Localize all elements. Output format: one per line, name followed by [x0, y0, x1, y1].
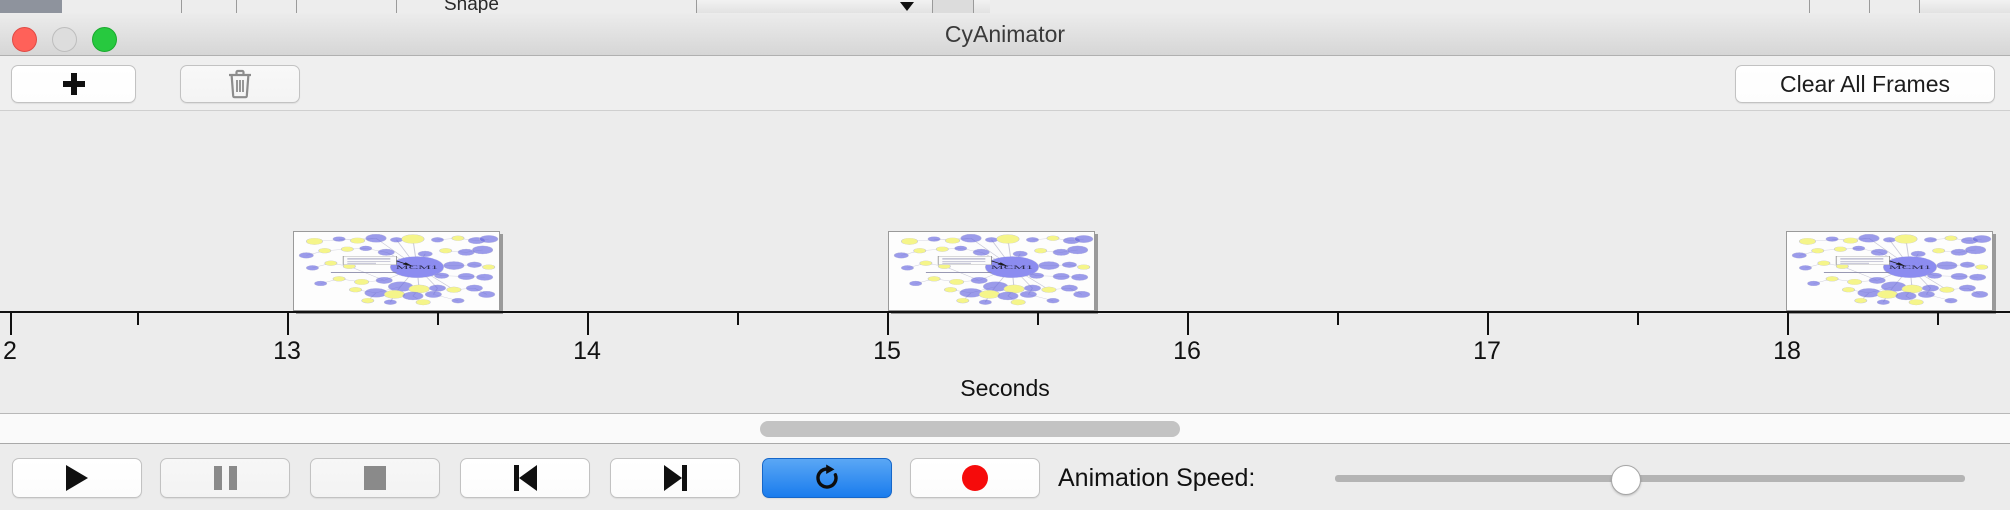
- delete-frame-button[interactable]: [180, 65, 300, 103]
- axis-tick: [1937, 313, 1939, 325]
- axis-title: Seconds: [0, 375, 2010, 402]
- pause-button[interactable]: [160, 458, 290, 498]
- background-notch: [932, 0, 974, 13]
- frame-thumbnail: MCM1: [889, 232, 1094, 310]
- animation-speed-slider[interactable]: [1335, 458, 1965, 498]
- stop-button[interactable]: [310, 458, 440, 498]
- play-icon: [66, 465, 88, 491]
- background-tab-1: [62, 0, 182, 13]
- background-window-sidebar: [0, 0, 62, 13]
- axis-tick: [1037, 313, 1039, 325]
- add-frame-button[interactable]: [11, 65, 136, 103]
- title-bar: CyAnimator: [0, 13, 2010, 56]
- axis-tick-label: 17: [1473, 337, 1501, 366]
- axis-tick: [1337, 313, 1339, 325]
- background-shape-label: Shape: [444, 0, 499, 14]
- axis-tick: [587, 313, 589, 335]
- background-tab-6: [990, 0, 1810, 13]
- plus-icon: [63, 73, 85, 95]
- axis-tick: [1487, 313, 1489, 335]
- axis-tick-label: 13: [273, 337, 301, 366]
- scrollbar-thumb[interactable]: [760, 421, 1180, 437]
- window-title: CyAnimator: [0, 13, 2010, 56]
- loop-icon: [812, 463, 842, 493]
- animation-speed-label: Animation Speed:: [1058, 458, 1255, 498]
- loop-button[interactable]: [762, 458, 892, 498]
- record-button[interactable]: [910, 458, 1040, 498]
- skip-next-button[interactable]: [610, 458, 740, 498]
- trash-icon: [227, 69, 253, 99]
- axis-tick: [287, 313, 289, 335]
- axis-tick-label: 18: [1773, 337, 1801, 366]
- timeline-axis-line: [0, 311, 2010, 313]
- frame-thumbnail: MCM1: [1787, 232, 1992, 310]
- axis-tick: [437, 313, 439, 325]
- axis-tick-label: 2: [3, 337, 17, 366]
- timeline-frame[interactable]: MCM1: [888, 231, 1095, 311]
- clear-all-frames-label: Clear All Frames: [1780, 71, 1950, 98]
- hub-node-label: MCM1: [396, 265, 438, 271]
- pause-icon: [214, 466, 237, 490]
- clear-all-frames-button[interactable]: Clear All Frames: [1735, 65, 1995, 103]
- axis-tick: [1637, 313, 1639, 325]
- stop-icon: [364, 466, 386, 490]
- axis-tick-label: 14: [573, 337, 601, 366]
- background-tab-8: [1870, 0, 1920, 13]
- axis-tick: [1787, 313, 1789, 335]
- frame-thumbnail: MCM1: [294, 232, 499, 310]
- background-tab-3: [237, 0, 297, 13]
- playback-bar: Animation Speed:: [0, 445, 2010, 510]
- axis-tick-label: 15: [873, 337, 901, 366]
- slider-track: [1335, 475, 1965, 482]
- background-tab-5: [397, 0, 697, 13]
- hub-node-label: MCM1: [991, 265, 1033, 271]
- background-window-strip: Shape: [0, 0, 2010, 14]
- play-button[interactable]: [12, 458, 142, 498]
- toolbar: Clear All Frames: [0, 56, 2010, 111]
- axis-tick-label: 16: [1173, 337, 1201, 366]
- axis-tick: [1187, 313, 1189, 335]
- slider-thumb[interactable]: [1611, 465, 1641, 495]
- skip-previous-button[interactable]: [460, 458, 590, 498]
- record-icon: [962, 465, 988, 491]
- skip-next-icon: [664, 465, 687, 491]
- timeline-panel[interactable]: MCM1MCM1MCM1 2131415161718 Seconds: [0, 111, 2010, 414]
- timeline-frame[interactable]: MCM1: [1786, 231, 1993, 311]
- axis-tick: [887, 313, 889, 335]
- background-tab-7: [1810, 0, 1870, 13]
- axis-tick: [10, 313, 12, 335]
- background-arrow-icon: [900, 2, 914, 11]
- network-graph-thumbnail: MCM1: [889, 232, 1094, 310]
- hub-node-label: MCM1: [1889, 265, 1931, 271]
- background-tab-2: [182, 0, 237, 13]
- timeline-frame[interactable]: MCM1: [293, 231, 500, 311]
- axis-tick: [737, 313, 739, 325]
- skip-previous-icon: [514, 465, 537, 491]
- axis-tick: [137, 313, 139, 325]
- network-graph-thumbnail: MCM1: [1787, 232, 1992, 310]
- timeline-scrollbar[interactable]: [0, 414, 2010, 444]
- background-tab-4: [297, 0, 397, 13]
- cyanimator-window: Shape CyAnimator Clear All Frames: [0, 0, 2010, 510]
- network-graph-thumbnail: MCM1: [294, 232, 499, 310]
